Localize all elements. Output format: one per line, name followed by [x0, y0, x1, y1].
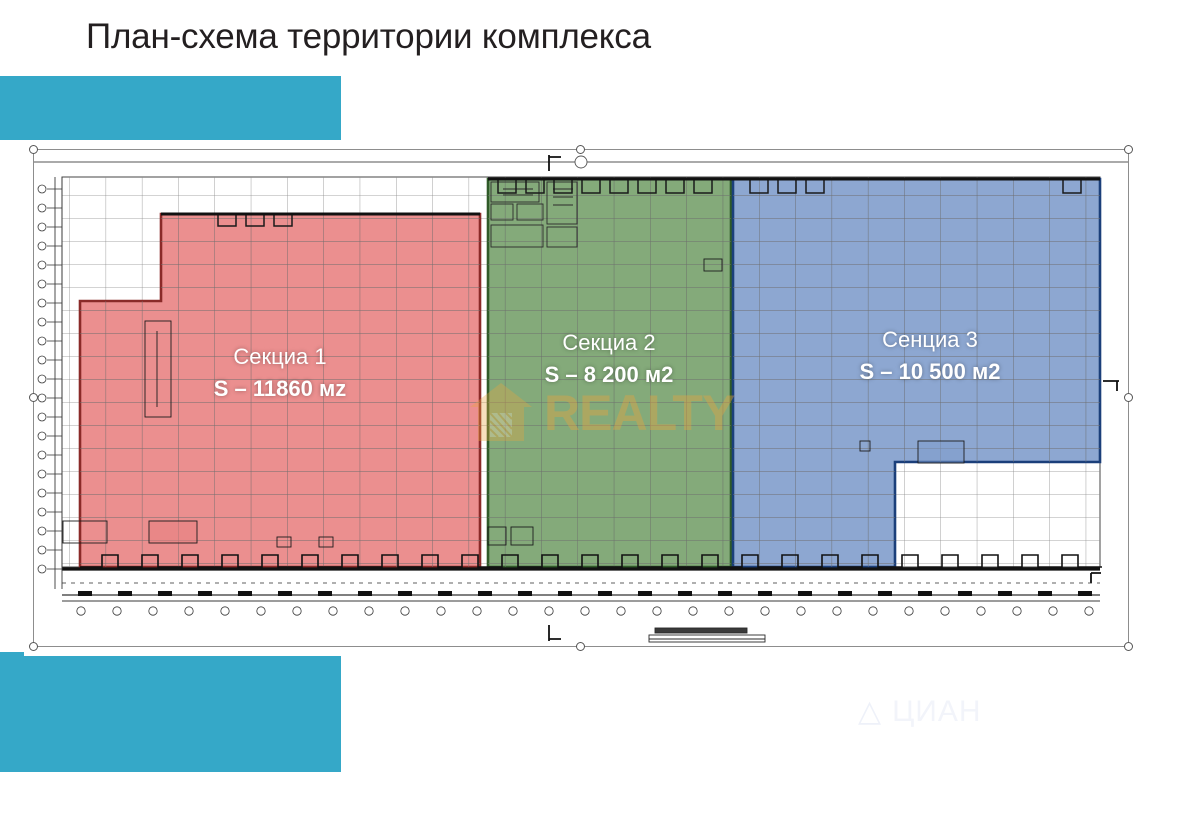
corner-watermark-text: ЦИАН	[892, 695, 981, 728]
decor-teal-block-bottom	[0, 652, 341, 772]
cian-mark-icon: △	[858, 694, 882, 729]
corner-watermark: △ЦИАН	[858, 694, 982, 729]
bottom-technical-strip	[649, 628, 765, 642]
axis-top-marker	[33, 156, 1129, 168]
axis-bottom-bubbles	[77, 607, 1093, 615]
axis-left	[55, 177, 62, 589]
axis-left-bubbles	[38, 185, 46, 573]
screenshot-root: План-схема территории комплекса	[0, 0, 1184, 832]
decor-teal-block-top	[0, 76, 341, 140]
section-2-shape	[488, 179, 731, 567]
axis-left-ticks	[47, 189, 62, 569]
page-title: План-схема территории комплекса	[86, 14, 651, 59]
floor-plan-drawing	[33, 149, 1129, 647]
